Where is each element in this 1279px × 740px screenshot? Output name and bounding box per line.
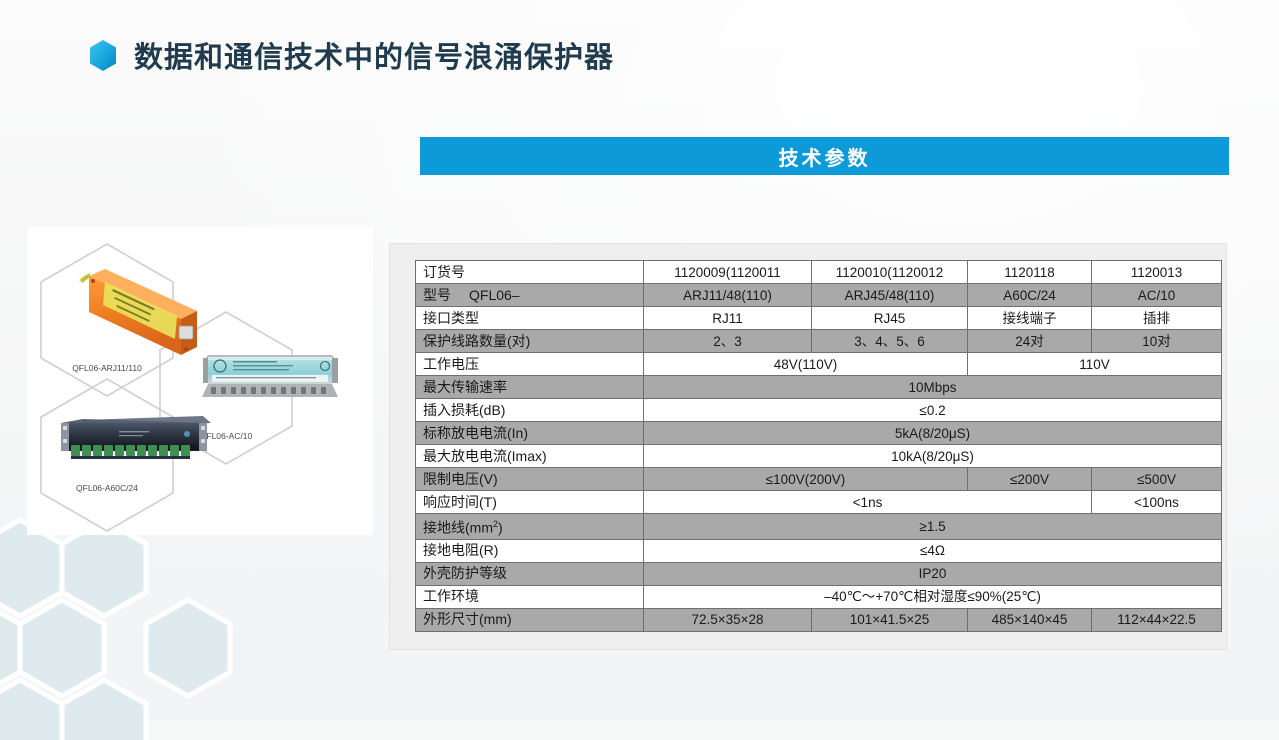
- spec-cell: 72.5×35×28: [644, 608, 812, 631]
- spec-row-label: 最大传输速率: [416, 376, 644, 399]
- table-row: 工作环境–40℃～+70℃相对湿度≤90%(25℃): [416, 585, 1222, 608]
- spec-cell: 485×140×45: [968, 608, 1092, 631]
- spec-row-label: 保护线路数量(对): [416, 330, 644, 353]
- table-row: 外壳防护等级IP20: [416, 562, 1222, 585]
- page-title: 数据和通信技术中的信号浪涌保护器: [134, 34, 614, 76]
- table-row: 保护线路数量(对)2、33、4、5、624对10对: [416, 330, 1222, 353]
- spec-cell: <100ns: [1092, 491, 1222, 514]
- spec-cell: AC/10: [1092, 284, 1222, 307]
- spec-cell: ARJ11/48(110): [644, 284, 812, 307]
- product-caption-1: QFL06-ARJ11/110: [72, 363, 142, 373]
- spec-row-label: 最大放电电流(Imax): [416, 445, 644, 468]
- spec-table-frame: 订货号1120009(11200111120010(11200121120118…: [389, 243, 1227, 650]
- spec-row-label: 工作环境: [416, 585, 644, 608]
- table-row: 接口类型RJ11RJ45接线端子插排: [416, 307, 1222, 330]
- product-caption-3: QFL06-A60C/24: [76, 483, 138, 493]
- spec-cell: 24对: [968, 330, 1092, 353]
- table-row: 最大传输速率10Mbps: [416, 376, 1222, 399]
- spec-cell: ≤200V: [968, 468, 1092, 491]
- table-row: 最大放电电流(Imax)10kA(8/20μS): [416, 445, 1222, 468]
- spec-cell: 2、3: [644, 330, 812, 353]
- spec-row-label: 响应时间(T): [416, 491, 644, 514]
- spec-cell: RJ11: [644, 307, 812, 330]
- product-image-panel: QFL06-ARJ11/110: [27, 227, 373, 535]
- page-title-bar: 数据和通信技术中的信号浪涌保护器: [88, 30, 614, 80]
- spec-row-label: 限制电压(V): [416, 468, 644, 491]
- table-row: 外形尺寸(mm)72.5×35×28101×41.5×25485×140×451…: [416, 608, 1222, 631]
- spec-row-label: 外形尺寸(mm): [416, 608, 644, 631]
- spec-row-label: 接地电阻(R): [416, 539, 644, 562]
- section-banner: 技术参数: [420, 137, 1229, 175]
- spec-cell: 10Mbps: [644, 376, 1222, 399]
- spec-cell: 48V(110V): [644, 353, 968, 376]
- spec-row-label: 外壳防护等级: [416, 562, 644, 585]
- spec-table: 订货号1120009(11200111120010(11200121120118…: [415, 260, 1222, 632]
- table-row: 型号QFL06–ARJ11/48(110)ARJ45/48(110)A60C/2…: [416, 284, 1222, 307]
- spec-cell: <1ns: [644, 491, 1092, 514]
- spec-row-label: 工作电压: [416, 353, 644, 376]
- hexagon-watermark-decoration: [0, 510, 300, 740]
- spec-cell: ≥1.5: [644, 514, 1222, 540]
- spec-row-label: 订货号: [416, 261, 644, 284]
- spec-row-label: 型号QFL06–: [416, 284, 644, 307]
- spec-cell: IP20: [644, 562, 1222, 585]
- spec-cell: RJ45: [812, 307, 968, 330]
- spec-cell: ≤500V: [1092, 468, 1222, 491]
- spec-cell: ARJ45/48(110): [812, 284, 968, 307]
- table-row: 接地电阻(R)≤4Ω: [416, 539, 1222, 562]
- table-row: 标称放电电流(In)5kA(8/20μS): [416, 422, 1222, 445]
- table-row: 工作电压48V(110V)110V: [416, 353, 1222, 376]
- spec-cell: –40℃～+70℃相对湿度≤90%(25℃): [644, 585, 1222, 608]
- table-row: 订货号1120009(11200111120010(11200121120118…: [416, 261, 1222, 284]
- spec-cell: 10对: [1092, 330, 1222, 353]
- spec-row-label: 接口类型: [416, 307, 644, 330]
- table-row: 插入损耗(dB)≤0.2: [416, 399, 1222, 422]
- section-banner-label: 技术参数: [779, 142, 871, 171]
- spec-cell: 101×41.5×25: [812, 608, 968, 631]
- spec-cell: A60C/24: [968, 284, 1092, 307]
- product-caption-2: QFL06-AC/10: [200, 431, 253, 441]
- spec-cell: 插排: [1092, 307, 1222, 330]
- spec-row-label: 接地线(mm2): [416, 514, 644, 540]
- spec-cell: 1120118: [968, 261, 1092, 284]
- spec-row-label-suffix: QFL06–: [451, 287, 520, 303]
- spec-row-label: 插入损耗(dB): [416, 399, 644, 422]
- spec-cell: ≤0.2: [644, 399, 1222, 422]
- spec-cell: 3、4、5、6: [812, 330, 968, 353]
- spec-cell: 5kA(8/20μS): [644, 422, 1222, 445]
- spec-cell: 110V: [968, 353, 1222, 376]
- table-row: 接地线(mm2)≥1.5: [416, 514, 1222, 540]
- spec-cell: 112×44×22.5: [1092, 608, 1222, 631]
- spec-cell: 1120013: [1092, 261, 1222, 284]
- hexagon-icon: [88, 39, 118, 72]
- spec-cell: ≤4Ω: [644, 539, 1222, 562]
- spec-cell: 1120009(1120011: [644, 261, 812, 284]
- spec-cell: 1120010(1120012: [812, 261, 968, 284]
- spec-row-label: 标称放电电流(In): [416, 422, 644, 445]
- spec-cell: 10kA(8/20μS): [644, 445, 1222, 468]
- table-row: 响应时间(T)<1ns<100ns: [416, 491, 1222, 514]
- spec-cell: ≤100V(200V): [644, 468, 968, 491]
- spec-cell: 接线端子: [968, 307, 1092, 330]
- table-row: 限制电压(V)≤100V(200V)≤200V≤500V: [416, 468, 1222, 491]
